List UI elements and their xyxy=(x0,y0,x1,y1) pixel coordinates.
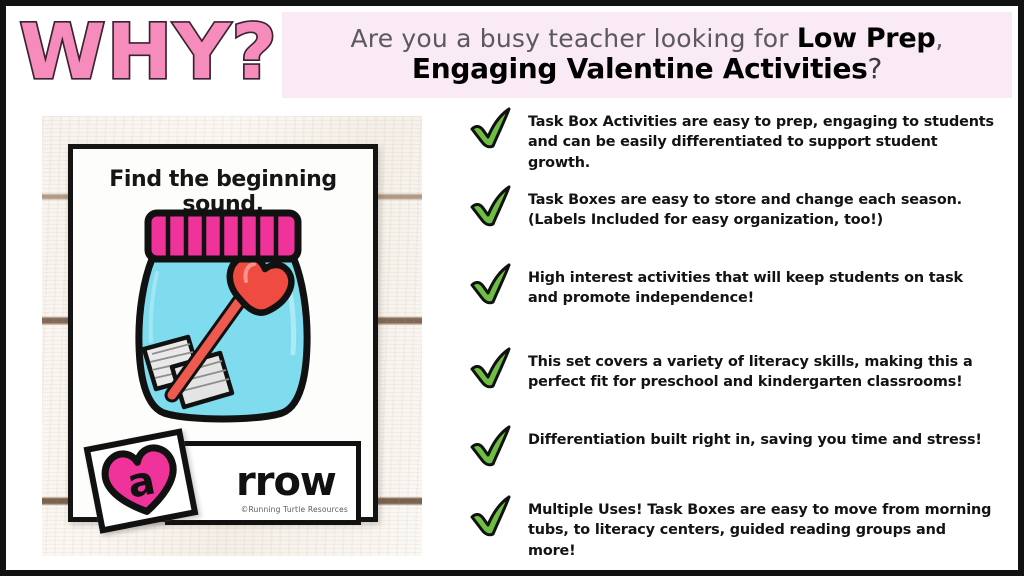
header-question-band: Are you a busy teacher looking for Low P… xyxy=(282,12,1012,98)
header: WHY? Are you a busy teacher looking for … xyxy=(6,6,1018,98)
header-line-2-qmark: ? xyxy=(868,52,883,85)
jar-icon xyxy=(128,207,318,425)
benefits-list: Task Box Activities are easy to prep, en… xyxy=(468,110,1013,572)
list-item-text: Multiple Uses! Task Boxes are easy to mo… xyxy=(528,498,996,561)
list-item-text: This set covers a variety of literacy sk… xyxy=(528,350,996,393)
list-item-text: Differentiation built right in, saving y… xyxy=(528,428,982,450)
word-card-text: rrow xyxy=(236,462,336,502)
list-item-text: Task Boxes are easy to store and change … xyxy=(528,188,996,231)
list-item: Task Box Activities are easy to prep, en… xyxy=(468,110,1013,173)
worksheet-card: Find the beginning sound. xyxy=(68,144,378,522)
check-icon xyxy=(468,260,514,306)
watermark: ©Running Turtle Resources xyxy=(241,505,348,514)
why-heading: WHY? xyxy=(24,10,274,94)
why-heading-text: WHY? xyxy=(20,14,279,90)
check-icon xyxy=(468,104,514,150)
header-line-1-part-b: busy teacher xyxy=(480,24,646,53)
header-line-2-strong: Engaging Valentine Activities xyxy=(412,52,868,85)
list-item: This set covers a variety of literacy sk… xyxy=(468,350,1013,393)
header-line-1-part-a: Are you a xyxy=(350,24,479,53)
list-item-text: Task Box Activities are easy to prep, en… xyxy=(528,110,996,173)
letter-card: a xyxy=(84,428,199,533)
product-photo: Find the beginning sound. xyxy=(42,116,422,556)
header-line-1-strong: Low Prep xyxy=(797,23,935,54)
list-item: High interest activities that will keep … xyxy=(468,266,1013,309)
check-icon xyxy=(468,182,514,228)
list-item: Multiple Uses! Task Boxes are easy to mo… xyxy=(468,498,1013,561)
header-line-1-comma: , xyxy=(935,24,943,53)
header-line-2: Engaging Valentine Activities? xyxy=(412,54,882,85)
list-item: Task Boxes are easy to store and change … xyxy=(468,188,1013,231)
jar-illustration xyxy=(128,207,318,425)
list-item-text: High interest activities that will keep … xyxy=(528,266,996,309)
check-icon xyxy=(468,344,514,390)
heart-letter-group: a xyxy=(96,439,186,523)
list-item: Differentiation built right in, saving y… xyxy=(468,428,1013,468)
header-line-1: Are you a busy teacher looking for Low P… xyxy=(350,25,943,53)
check-icon xyxy=(468,492,514,538)
header-line-1-part-c: looking for xyxy=(645,24,797,53)
check-icon xyxy=(468,422,514,468)
slide-canvas: WHY? Are you a busy teacher looking for … xyxy=(0,0,1024,576)
